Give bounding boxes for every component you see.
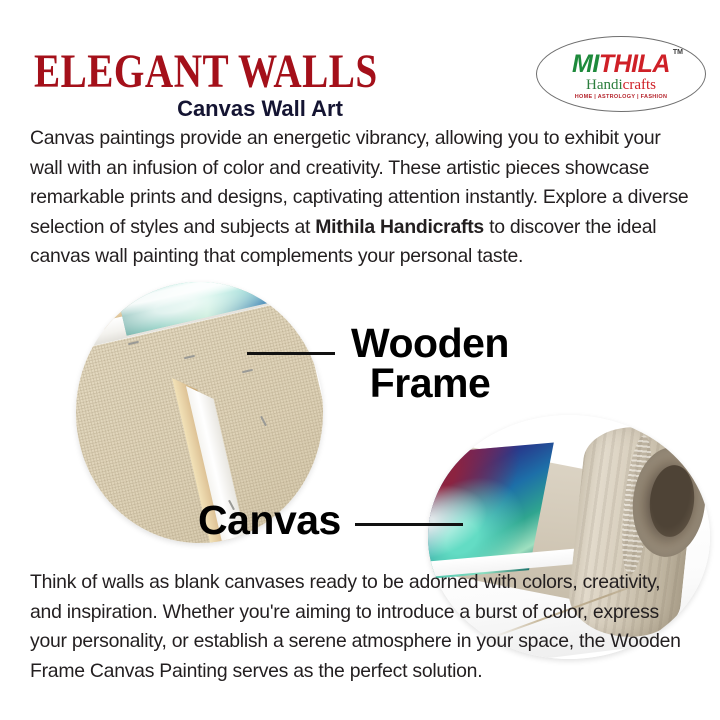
wooden-frame-label-line2: Frame (330, 363, 530, 403)
logo-sub-part1: Handi (586, 77, 623, 93)
canvas-label: Canvas (198, 500, 341, 540)
trademark-icon: TM (673, 49, 683, 56)
wooden-frame-label: Wooden Frame (330, 323, 530, 403)
logo-sub-name: Handicrafts (536, 78, 706, 93)
logo-sub-part2: crafts (623, 77, 656, 93)
logo-name-part3: HILA (614, 50, 670, 78)
wooden-frame-leader-line (247, 352, 335, 355)
logo-name-part1: MI (572, 50, 599, 78)
page-title: ELEGANT WALLS (34, 48, 378, 95)
brand-mention: Mithila Handicrafts (315, 216, 484, 238)
mithila-handicrafts-logo: MITHILA TM Handicrafts HOME | ASTROLOGY … (536, 36, 706, 112)
page-subtitle: Canvas Wall Art (0, 96, 520, 122)
header-banner: ELEGANT WALLS Canvas Wall Art MITHILA TM… (0, 0, 720, 120)
canvas-leader-line (355, 523, 463, 526)
closing-paragraph: Think of walls as blank canvases ready t… (30, 568, 692, 686)
logo-tagline: HOME | ASTROLOGY | FASHION (536, 94, 706, 100)
wooden-frame-label-line1: Wooden (351, 320, 509, 366)
intro-paragraph: Canvas paintings provide an energetic vi… (30, 124, 692, 272)
logo-name-part2: T (599, 50, 614, 78)
